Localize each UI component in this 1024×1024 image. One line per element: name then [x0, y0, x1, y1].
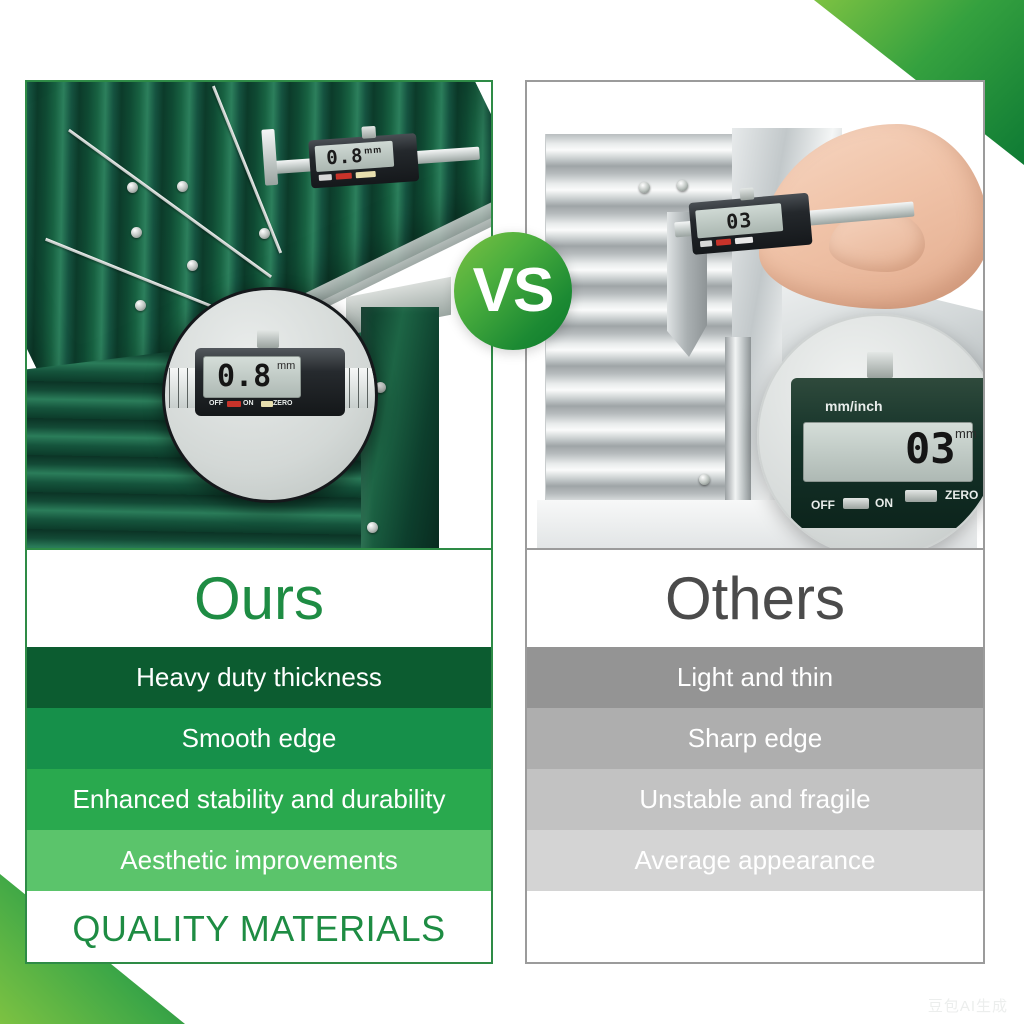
panel-ours: 0.8mm 0.8 mm OFF ON ZERO: [25, 80, 493, 964]
caliper-on-label: ON: [243, 400, 254, 407]
feature-label: Average appearance: [635, 845, 876, 876]
feature-label: Unstable and fragile: [639, 784, 870, 815]
caliper-on-label: ON: [875, 496, 893, 510]
vs-label: VS: [473, 260, 554, 322]
feature-label: Enhanced stability and durability: [73, 784, 446, 815]
caliper-thumb-knob: [361, 126, 376, 139]
caliper-off-label: OFF: [811, 498, 835, 512]
caliper-zero-label: ZERO: [945, 488, 978, 502]
footer-ours: QUALITY MATERIALS: [27, 891, 491, 964]
feature-label: Heavy duty thickness: [136, 662, 382, 693]
caliper-on-button: [716, 239, 731, 246]
heading-others: Others: [527, 550, 983, 647]
footer-others: [527, 891, 983, 964]
digital-caliper-ours: 0.8mm: [280, 128, 469, 201]
screw-bolt: [131, 227, 142, 238]
caliper-off-button: [319, 174, 332, 181]
feature-row-others-2: Sharp edge: [527, 708, 983, 769]
caliper-reading-others: 03: [905, 428, 956, 470]
feature-row-ours-2: Smooth edge: [27, 708, 491, 769]
screw-bolt: [127, 182, 138, 193]
panel-others: 03 03 mm mm/inch OFF ON ZERO: [525, 80, 985, 964]
caliper-zero-button: [261, 401, 273, 407]
caliper-on-button: [227, 401, 241, 407]
caliper-thumb-knob: [867, 352, 893, 378]
magnifier-inset-ours: 0.8 mm OFF ON ZERO: [162, 287, 378, 503]
feature-row-others-4: Average appearance: [527, 830, 983, 891]
caliper-zero-switch: [905, 490, 937, 502]
vs-badge: VS: [454, 232, 572, 350]
screw-bolt: [367, 522, 378, 533]
caliper-on-button: [336, 173, 352, 180]
caliper-off-switch: [843, 498, 869, 509]
feature-list-others: Light and thinSharp edgeUnstable and fra…: [527, 647, 983, 891]
feature-row-others-3: Unstable and fragile: [527, 769, 983, 830]
feature-label: Sharp edge: [688, 723, 822, 754]
screw-bolt: [259, 228, 270, 239]
feature-label: Smooth edge: [182, 723, 337, 754]
caliper-off-button: [700, 240, 712, 247]
caliper-reading-ours-small: 0.8: [326, 145, 365, 170]
caliper-unit-others: mm: [955, 426, 977, 441]
screw-bolt: [135, 300, 146, 311]
caliper-thumb-knob: [257, 330, 279, 348]
screw-bolt: [699, 474, 710, 485]
screw-bolt: [187, 260, 198, 271]
caliper-brand-label: mm/inch: [825, 398, 883, 414]
caliper-unit-ours: mm: [277, 360, 295, 372]
feature-row-ours-4: Aesthetic improvements: [27, 830, 491, 891]
screw-bolt: [639, 182, 650, 193]
caliper-thumb-knob: [739, 187, 754, 200]
heading-ours: Ours: [27, 550, 491, 647]
product-photo-others: 03 03 mm mm/inch OFF ON ZERO: [527, 82, 983, 550]
watermark: 豆包AI生成: [928, 995, 1008, 1016]
caliper-reading-ours: 0.8: [217, 362, 271, 392]
caliper-unit-ours-small: mm: [364, 144, 383, 155]
feature-row-others-1: Light and thin: [527, 647, 983, 708]
feature-label: Aesthetic improvements: [120, 845, 397, 876]
green-corner-post: [361, 307, 439, 550]
quality-materials-label: QUALITY MATERIALS: [72, 908, 445, 950]
caliper-off-label: OFF: [209, 400, 223, 407]
product-photo-ours: 0.8mm 0.8 mm OFF ON ZERO: [27, 82, 491, 550]
feature-label: Light and thin: [677, 662, 833, 693]
feature-row-ours-1: Heavy duty thickness: [27, 647, 491, 708]
infographic-canvas: 0.8mm 0.8 mm OFF ON ZERO: [0, 0, 1024, 1024]
screw-bolt: [177, 181, 188, 192]
caliper-reading-others-small: 03: [725, 208, 753, 234]
feature-row-ours-3: Enhanced stability and durability: [27, 769, 491, 830]
caliper-zero-label: ZERO: [273, 400, 292, 407]
feature-list-ours: Heavy duty thicknessSmooth edgeEnhanced …: [27, 647, 491, 891]
screw-bolt: [677, 180, 688, 191]
